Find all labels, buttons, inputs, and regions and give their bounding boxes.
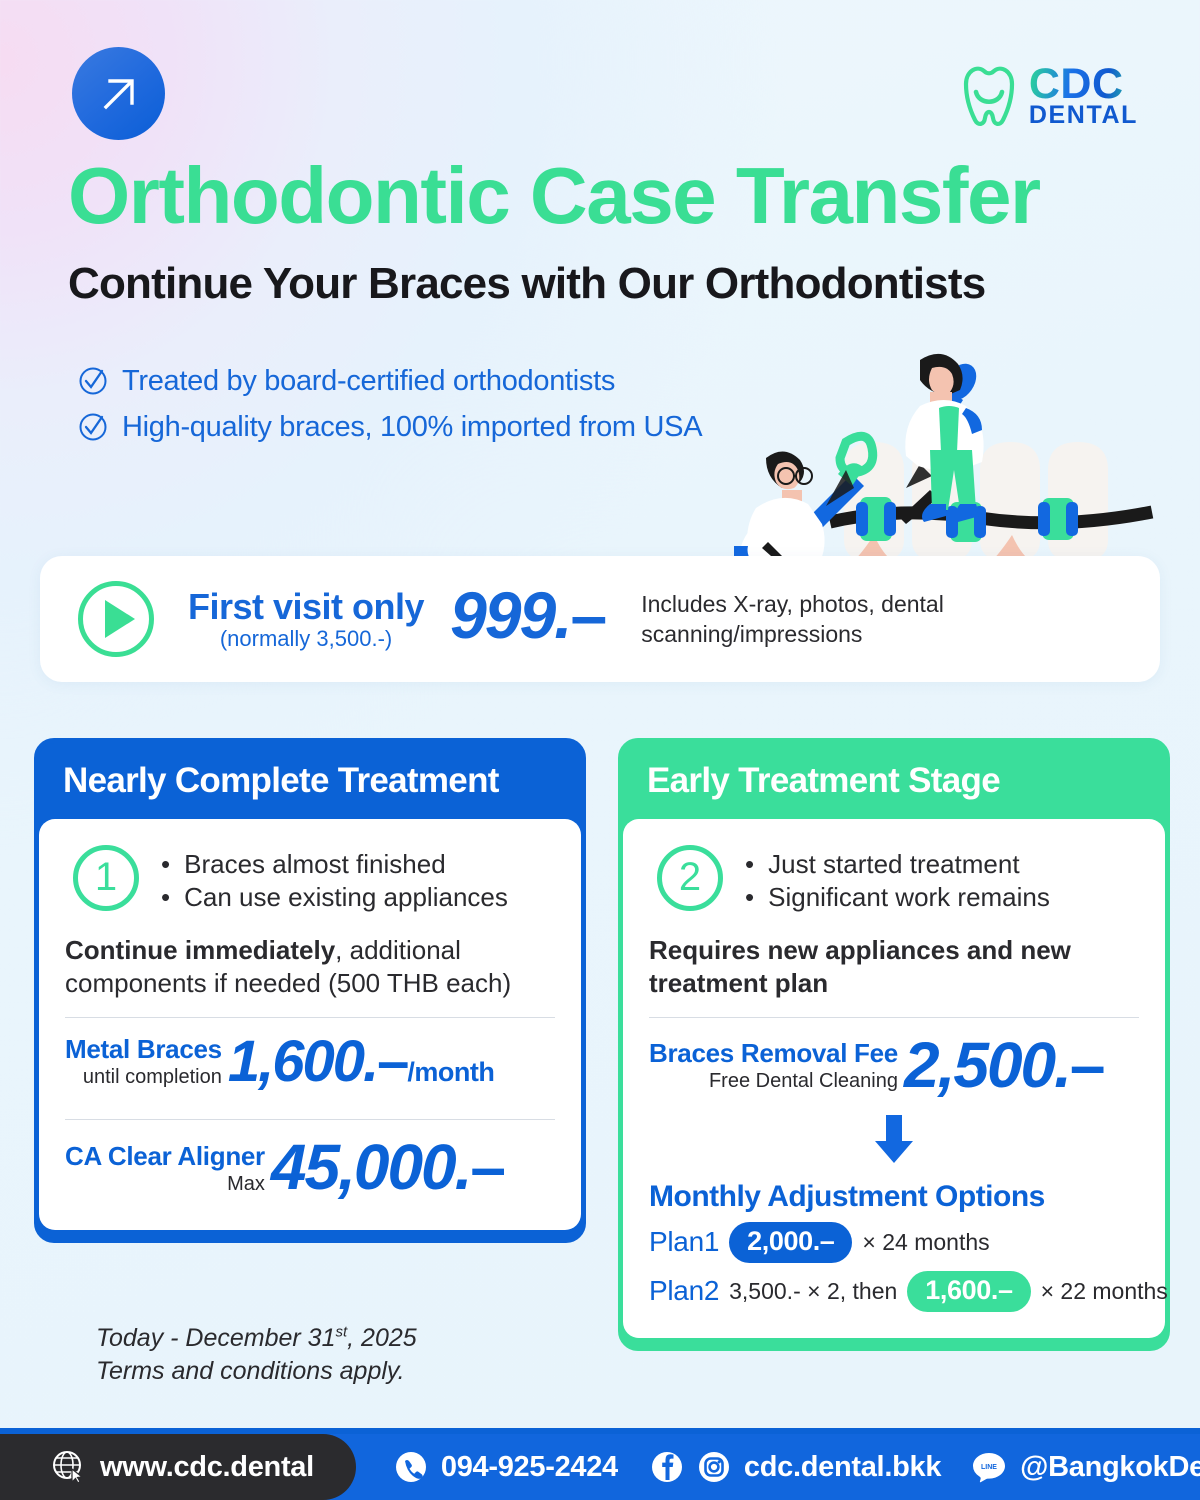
card-b-feature-block: 2 Just started treatment Significant wor… xyxy=(649,841,1139,914)
promo-inclusions-line1: Includes X-ray, photos, dental xyxy=(641,589,944,619)
footer-line-text: @BangkokDentist xyxy=(1020,1451,1200,1484)
price-dash: – xyxy=(1070,1029,1104,1101)
terms-ordinal: st xyxy=(335,1324,347,1341)
price-label: Braces Removal Fee xyxy=(649,1038,898,1069)
promo-inclusions: Includes X-ray, photos, dental scanning/… xyxy=(641,589,944,650)
price-dash: – xyxy=(377,1029,407,1094)
line-app-icon: LINE xyxy=(971,1450,1007,1484)
feature-bullets: Treated by board-certified orthodontists… xyxy=(78,358,702,450)
plan-name: Plan2 xyxy=(649,1275,719,1307)
footer-phone-text: 094-925-2424 xyxy=(441,1451,618,1484)
price-sublabel: Free Dental Cleaning xyxy=(649,1070,898,1093)
plan-row-2: Plan2 3,500.- × 2, then 1,600.– × 22 mon… xyxy=(649,1271,1139,1312)
globe-cursor-icon xyxy=(52,1450,86,1484)
play-button-icon[interactable] xyxy=(78,581,154,657)
card-a-note-bold: Continue immediately xyxy=(65,935,335,965)
page-subtitle: Continue Your Braces with Our Orthodonti… xyxy=(68,262,985,306)
svg-text:LINE: LINE xyxy=(981,1464,997,1471)
terms-line1: Today - December 31st, 2025 xyxy=(96,1322,417,1355)
check-circle-icon xyxy=(78,412,108,442)
feature-text: Just started treatment xyxy=(768,848,1019,881)
terms-year: , 2025 xyxy=(347,1324,417,1352)
arrow-down-wrap xyxy=(649,1115,1139,1170)
promo-label-block: First visit only (normally 3,500.-) xyxy=(188,586,424,652)
terms-line2: Terms and conditions apply. xyxy=(96,1355,417,1388)
plan-prefix: 3,500.- × 2, then xyxy=(729,1278,897,1305)
price-row-clear-aligner: CA Clear Aligner Max 45,000.– xyxy=(65,1120,555,1211)
step-number-badge: 1 xyxy=(73,845,139,911)
card-early-treatment-stage: Early Treatment Stage 2 Just started tre… xyxy=(618,738,1170,1351)
price-row-braces-removal: Braces Removal Fee Free Dental Cleaning … xyxy=(649,1018,1139,1109)
monthly-options-title: Monthly Adjustment Options xyxy=(649,1180,1139,1214)
price-amount: 45,000.– xyxy=(271,1134,504,1201)
price-sublabel: until completion xyxy=(65,1066,222,1089)
price-value: 45,000. xyxy=(271,1131,471,1203)
card-a-heading: Nearly Complete Treatment xyxy=(39,743,581,819)
card-b-note: Requires new appliances and new treatmen… xyxy=(649,934,1139,1000)
plan-duration: × 22 months xyxy=(1041,1278,1168,1305)
facebook-icon xyxy=(650,1450,684,1484)
price-label: Metal Braces xyxy=(65,1034,222,1065)
card-nearly-complete-treatment: Nearly Complete Treatment 1 Braces almos… xyxy=(34,738,586,1243)
feature-text: Significant work remains xyxy=(768,881,1050,914)
price-amount: 2,500.– xyxy=(904,1032,1104,1099)
plan-duration: × 24 months xyxy=(862,1229,989,1256)
list-item: Can use existing appliances xyxy=(161,881,508,914)
plan-price-pill: 1,600.– xyxy=(907,1271,1030,1312)
card-b-features: Just started treatment Significant work … xyxy=(745,848,1050,914)
footer-social[interactable]: cdc.dental.bkk xyxy=(650,1450,941,1484)
cdc-dental-logo: CDC DENTAL xyxy=(958,62,1138,128)
footer-phone[interactable]: 094-925-2424 xyxy=(394,1450,618,1484)
arrow-down-icon xyxy=(872,1115,916,1165)
footer-website-text: www.cdc.dental xyxy=(100,1451,314,1484)
price-sublabel: Max xyxy=(65,1173,265,1196)
card-a-feature-block: 1 Braces almost finished Can use existin… xyxy=(65,841,555,914)
card-a-features: Braces almost finished Can use existing … xyxy=(161,848,508,914)
promo-price-value: 999. xyxy=(450,578,570,652)
plan-row-1: Plan1 2,000.– × 24 months xyxy=(649,1222,1139,1263)
footer-line-account[interactable]: LINE @BangkokDentist xyxy=(971,1450,1200,1484)
page-title: Orthodontic Case Transfer xyxy=(68,156,1040,236)
promo-price: 999.– xyxy=(450,577,605,653)
tooth-smile-icon xyxy=(958,62,1020,128)
promo-label: First visit only xyxy=(188,586,424,628)
promo-inclusions-line2: scanning/impressions xyxy=(641,619,944,649)
footer-website-pill[interactable]: www.cdc.dental xyxy=(0,1434,356,1500)
phone-icon xyxy=(394,1450,428,1484)
arrow-up-right-badge[interactable] xyxy=(72,47,165,140)
feature-text: Braces almost finished xyxy=(184,848,446,881)
dentists-braces-illustration xyxy=(734,330,1154,565)
list-item: Braces almost finished xyxy=(161,848,508,881)
terms-date: Today - December 31 xyxy=(96,1324,335,1352)
step-number: 2 xyxy=(679,857,701,897)
promo-price-dash: – xyxy=(571,578,606,652)
logo-subtext: DENTAL xyxy=(1029,103,1138,128)
play-triangle-icon xyxy=(105,600,135,638)
terms-and-conditions: Today - December 31st, 2025 Terms and co… xyxy=(96,1322,417,1387)
card-a-note: Continue immediately, additional compone… xyxy=(65,934,555,1000)
first-visit-promo-bar: First visit only (normally 3,500.-) 999.… xyxy=(40,556,1160,682)
footer-contact-bar: www.cdc.dental 094-925-2424 cdc.dental.b… xyxy=(0,1434,1200,1500)
footer-social-text: cdc.dental.bkk xyxy=(744,1451,941,1484)
logo-wordmark: CDC xyxy=(1029,63,1138,106)
card-b-heading: Early Treatment Stage xyxy=(623,743,1165,819)
bullet-item: High-quality braces, 100% imported from … xyxy=(78,404,702,450)
arrow-up-right-icon xyxy=(93,68,145,120)
price-value: 2,500. xyxy=(904,1029,1070,1101)
price-row-metal-braces: Metal Braces until completion 1,600.–/mo… xyxy=(65,1018,555,1103)
bullet-label: High-quality braces, 100% imported from … xyxy=(122,411,702,444)
step-number-badge: 2 xyxy=(657,845,723,911)
check-circle-icon xyxy=(78,366,108,396)
price-dash: – xyxy=(470,1131,504,1203)
plan-name: Plan1 xyxy=(649,1226,719,1258)
instagram-icon xyxy=(697,1450,731,1484)
price-suffix: /month xyxy=(407,1057,494,1087)
plan-price-pill: 2,000.– xyxy=(729,1222,852,1263)
card-b-note-bold: Requires new appliances and new treatmen… xyxy=(649,935,1071,998)
list-item: Significant work remains xyxy=(745,881,1050,914)
bullet-item: Treated by board-certified orthodontists xyxy=(78,358,702,404)
feature-text: Can use existing appliances xyxy=(184,881,508,914)
price-label: CA Clear Aligner xyxy=(65,1141,265,1172)
step-number: 1 xyxy=(95,857,117,897)
price-value: 1,600. xyxy=(228,1029,377,1094)
list-item: Just started treatment xyxy=(745,848,1050,881)
bullet-label: Treated by board-certified orthodontists xyxy=(122,365,615,398)
price-amount: 1,600.–/month xyxy=(228,1032,495,1093)
promo-normal-price: (normally 3,500.-) xyxy=(188,626,424,652)
